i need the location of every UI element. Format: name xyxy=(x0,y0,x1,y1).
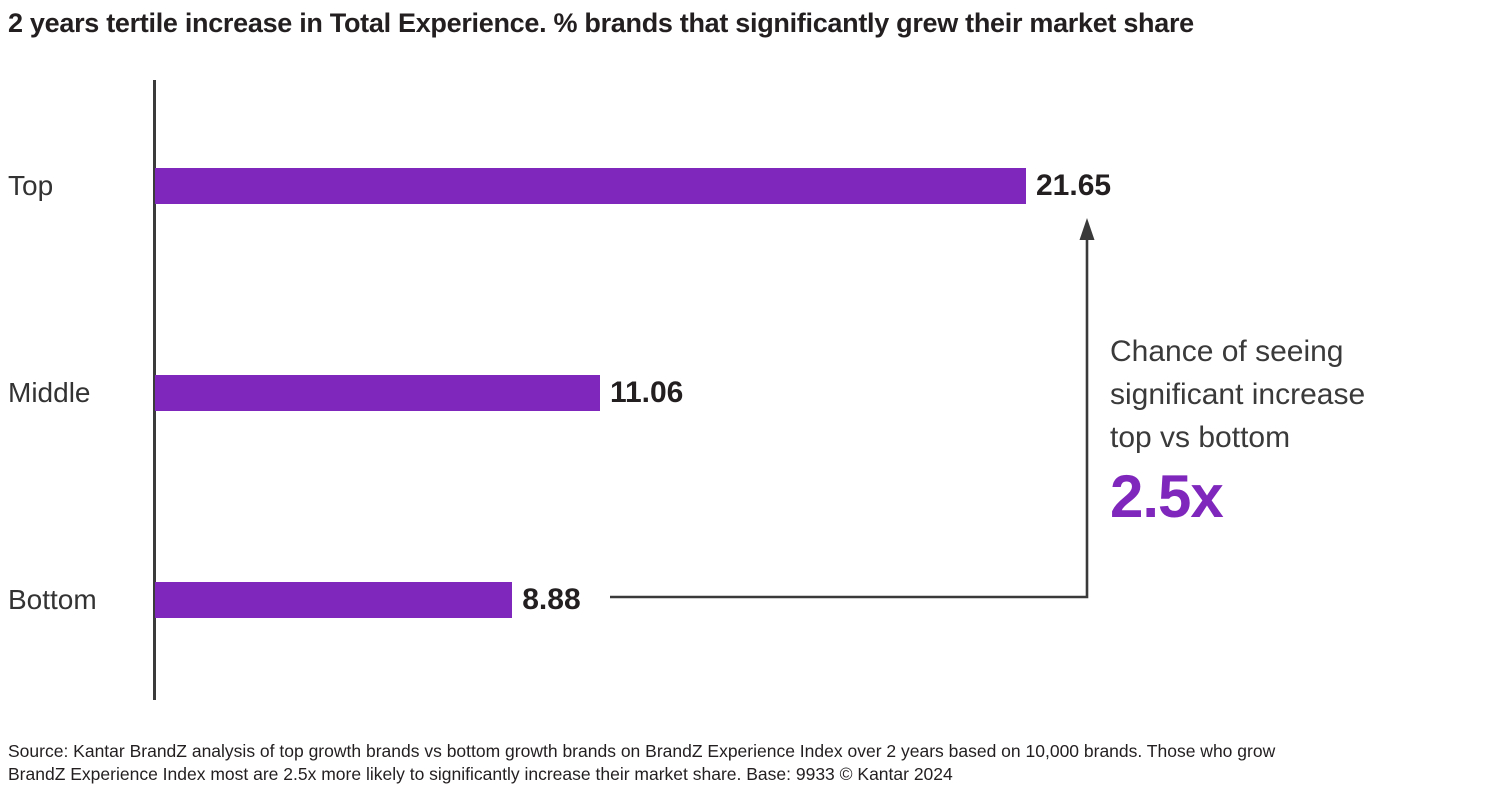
callout-line-1: Chance of seeing xyxy=(1110,330,1490,373)
source-line-2: BrandZ Experience Index most are 2.5x mo… xyxy=(8,763,1492,786)
bar-value-middle: 11.06 xyxy=(610,375,683,411)
bar-middle[interactable] xyxy=(155,375,600,411)
source-line-1: Source: Kantar BrandZ analysis of top gr… xyxy=(8,740,1492,763)
bar-row: Bottom 8.88 xyxy=(0,582,1500,618)
bar-bottom[interactable] xyxy=(155,582,512,618)
bar-top[interactable] xyxy=(155,168,1026,204)
callout-line-3: top vs bottom xyxy=(1110,416,1490,459)
callout-line-2: significant increase xyxy=(1110,373,1490,416)
category-label-top: Top xyxy=(8,168,138,204)
connector-path xyxy=(610,232,1087,597)
source-footnote: Source: Kantar BrandZ analysis of top gr… xyxy=(8,740,1492,786)
category-label-bottom: Bottom xyxy=(8,582,138,618)
category-label-middle: Middle xyxy=(8,375,138,411)
bar-row: Top 21.65 xyxy=(0,168,1500,204)
callout-multiplier-value: 2.5x xyxy=(1110,461,1490,533)
callout-text-block: Chance of seeing significant increase to… xyxy=(1110,330,1490,533)
bar-value-top: 21.65 xyxy=(1036,168,1111,204)
arrowhead-icon xyxy=(1080,218,1095,240)
bar-value-bottom: 8.88 xyxy=(522,582,580,618)
